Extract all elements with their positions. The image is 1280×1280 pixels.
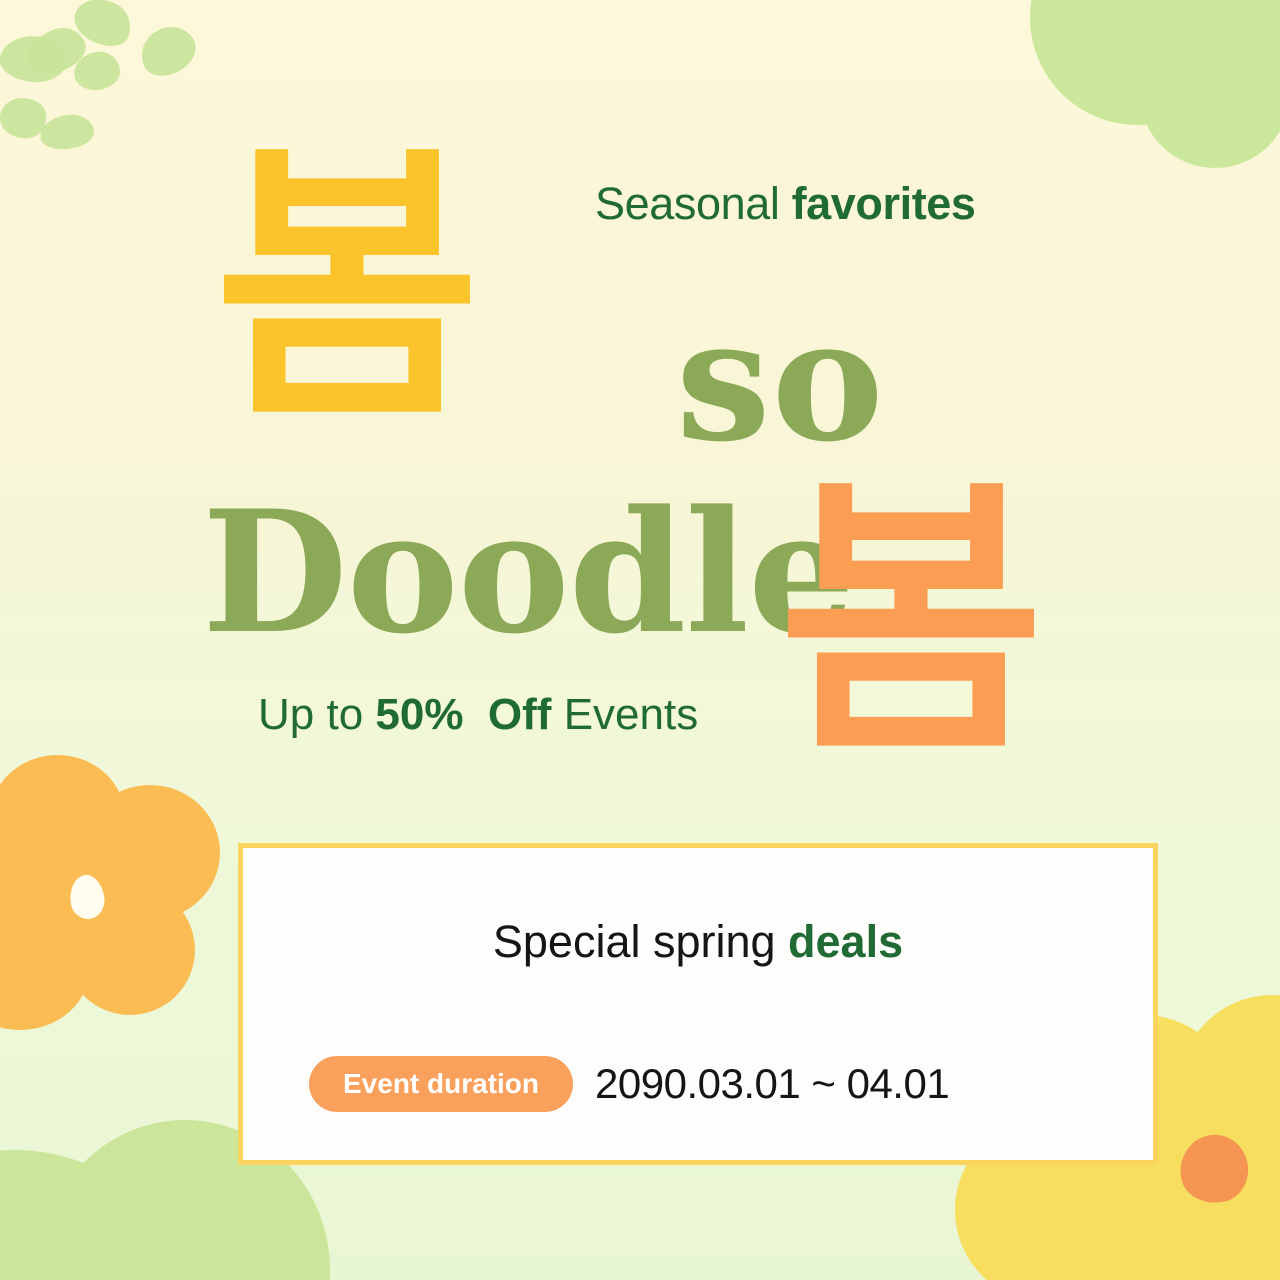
eyebrow-regular-text: Seasonal xyxy=(595,178,792,229)
event-duration-row: Event duration 2090.03.01 ~ 04.01 xyxy=(309,1056,949,1112)
korean-spring-orange: 봄 xyxy=(778,478,1039,768)
deal-title-bold: deals xyxy=(788,916,903,967)
promo-poster: Seasonal favorites 봄 so Doodle 봄 Up to 5… xyxy=(0,0,1280,1280)
eyebrow-headline: Seasonal favorites xyxy=(595,178,976,230)
event-duration-badge: Event duration xyxy=(309,1056,573,1112)
deal-card-title: Special spring deals xyxy=(243,916,1153,968)
eyebrow-bold-text: favorites xyxy=(792,178,976,229)
korean-spring-yellow: 봄 xyxy=(214,144,475,434)
deal-title-regular: Special spring xyxy=(493,916,788,967)
discount-line: Up to 50% Off Events xyxy=(258,690,698,740)
poster-content: Seasonal favorites 봄 so Doodle 봄 Up to 5… xyxy=(0,0,1280,1280)
discount-suffix: Events xyxy=(564,690,699,739)
event-duration-value: 2090.03.01 ~ 04.01 xyxy=(595,1060,949,1108)
discount-prefix: Up to xyxy=(258,690,375,739)
deal-card: Special spring deals Event duration 2090… xyxy=(238,843,1158,1165)
discount-off: Off xyxy=(488,690,552,739)
discount-percent: 50% xyxy=(375,690,463,739)
hero-word-so: so xyxy=(676,296,885,464)
hero-word-doodle: Doodle xyxy=(202,488,854,656)
